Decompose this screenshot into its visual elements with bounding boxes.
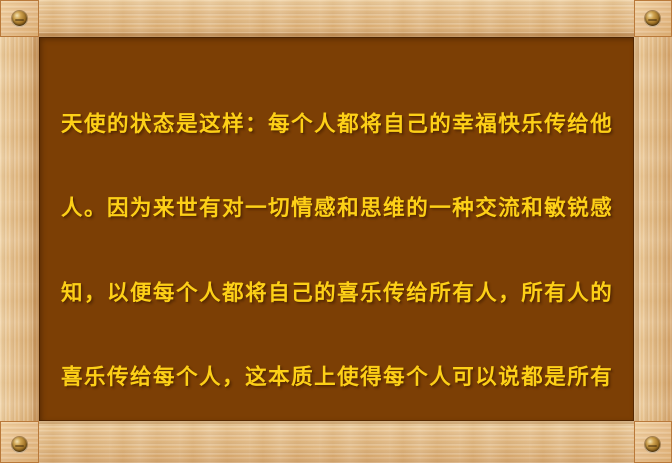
framed-text-plaque: 天使的状态是这样：每个人都将自己的幸福快乐传给他 人。因为来世有对一切情感和思维… — [0, 0, 672, 463]
frame-rail-bottom — [39, 421, 634, 463]
quotation-line: 天使的状态是这样：每个人都将自己的幸福快乐传给他 — [61, 111, 612, 139]
text-panel: 天使的状态是这样：每个人都将自己的幸福快乐传给他 人。因为来世有对一切情感和思维… — [39, 37, 634, 421]
frame-stile-right — [634, 37, 672, 421]
quotation-body: 天使的状态是这样：每个人都将自己的幸福快乐传给他 人。因为来世有对一切情感和思维… — [61, 55, 612, 421]
quotation-line: 喜乐传给每个人，这本质上使得每个人可以说都是所有 — [61, 364, 612, 392]
screw-icon-bottom-left — [12, 437, 27, 452]
frame-bevel-right — [634, 37, 639, 421]
screw-icon-top-left — [12, 11, 27, 26]
text-panel-content: 天使的状态是这样：每个人都将自己的幸福快乐传给他 人。因为来世有对一切情感和思维… — [39, 37, 634, 421]
frame-rail-top — [39, 0, 634, 37]
quotation-line: 人。因为来世有对一切情感和思维的一种交流和敏锐感 — [61, 195, 612, 223]
quotation-line: 知，以便每个人都将自己的喜乐传给所有人，所有人的 — [61, 280, 612, 308]
screw-icon-bottom-right — [645, 437, 660, 452]
frame-bevel-bottom — [39, 421, 634, 424]
screw-icon-top-right — [645, 11, 660, 26]
